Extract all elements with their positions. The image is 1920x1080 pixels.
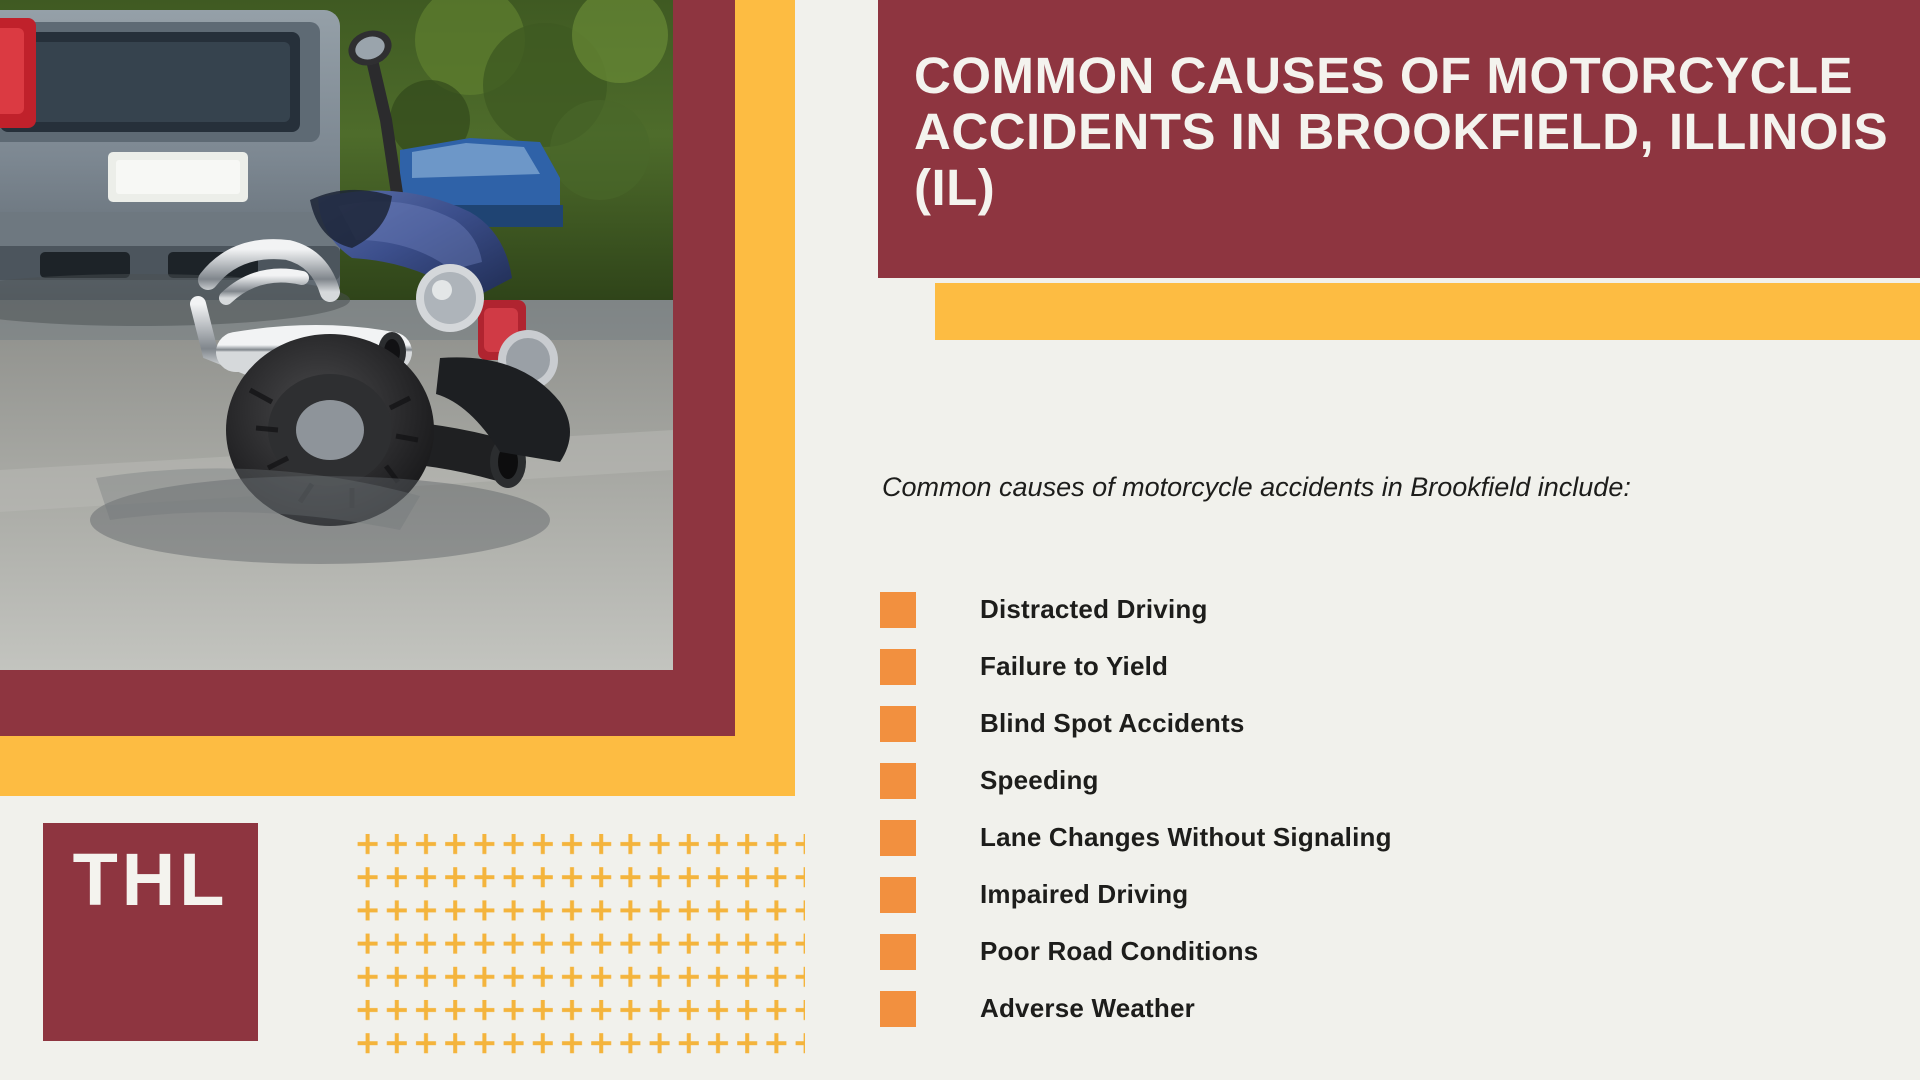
list-item-label: Speeding xyxy=(980,765,1099,796)
list-item: Speeding xyxy=(880,752,1780,809)
bullet-square-icon xyxy=(880,649,916,685)
list-item-label: Distracted Driving xyxy=(980,594,1208,625)
list-item: Blind Spot Accidents xyxy=(880,695,1780,752)
title-accent-bar xyxy=(935,283,1920,340)
list-item-label: Failure to Yield xyxy=(980,651,1168,682)
bullet-square-icon xyxy=(880,934,916,970)
list-item: Impaired Driving xyxy=(880,866,1780,923)
intro-paragraph: Common causes of motorcycle accidents in… xyxy=(882,468,1682,506)
thl-logo: THL xyxy=(43,823,258,1041)
infographic-canvas: THL COMMON CAUSES OF MOTORCYCLE ACCIDENT… xyxy=(0,0,1920,1080)
list-item: Poor Road Conditions xyxy=(880,923,1780,980)
list-item: Failure to Yield xyxy=(880,638,1780,695)
list-item-label: Poor Road Conditions xyxy=(980,936,1258,967)
causes-list: Distracted Driving Failure to Yield Blin… xyxy=(880,581,1780,1037)
title-band: COMMON CAUSES OF MOTORCYCLE ACCIDENTS IN… xyxy=(878,0,1920,278)
thl-logo-text: THL xyxy=(43,843,258,917)
bullet-square-icon xyxy=(880,763,916,799)
list-item-label: Blind Spot Accidents xyxy=(980,708,1245,739)
accident-photo xyxy=(0,0,673,670)
bullet-square-icon xyxy=(880,706,916,742)
bullet-square-icon xyxy=(880,820,916,856)
bullet-square-icon xyxy=(880,592,916,628)
bullet-square-icon xyxy=(880,877,916,913)
list-item-label: Impaired Driving xyxy=(980,879,1188,910)
list-item: Distracted Driving xyxy=(880,581,1780,638)
bullet-square-icon xyxy=(880,991,916,1027)
plus-pattern-decoration xyxy=(355,832,805,1064)
page-title: COMMON CAUSES OF MOTORCYCLE ACCIDENTS IN… xyxy=(914,48,1890,216)
list-item: Adverse Weather xyxy=(880,980,1780,1037)
list-item-label: Lane Changes Without Signaling xyxy=(980,822,1392,853)
list-item-label: Adverse Weather xyxy=(980,993,1195,1024)
list-item: Lane Changes Without Signaling xyxy=(880,809,1780,866)
